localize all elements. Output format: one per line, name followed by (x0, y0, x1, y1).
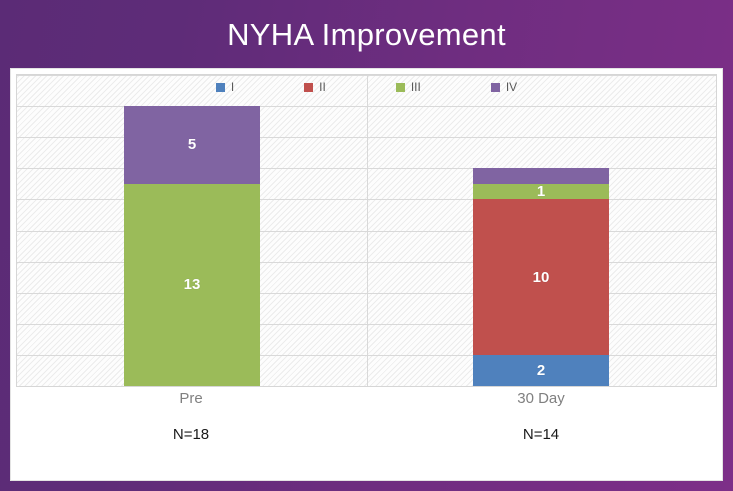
sample-size-label: N=18 (16, 427, 366, 442)
bar-segment-iii[interactable]: 13 (124, 184, 260, 386)
slide-canvas: NYHA Improvement IIIIIIIV 5131102 Pre30 … (0, 0, 733, 491)
x-axis-sample-size-labels: N=18N=14 (16, 427, 717, 457)
bar-value-label: 1 (537, 184, 545, 199)
bar-segment-ii[interactable]: 10 (473, 199, 609, 355)
x-axis-label-pre: Pre (16, 391, 366, 406)
gridline-horizontal (17, 386, 716, 387)
bar-value-label: 5 (188, 137, 196, 152)
bar-value-label: 13 (184, 277, 201, 292)
legend-label: III (411, 81, 421, 93)
legend-label: II (319, 81, 326, 93)
legend-swatch-icon (491, 83, 500, 92)
gridline-vertical (367, 75, 368, 386)
chart-card: IIIIIIIV 5131102 Pre30 Day N=18N=14 (10, 68, 723, 481)
legend-swatch-icon (304, 83, 313, 92)
legend-swatch-icon (216, 83, 225, 92)
legend-item-ii[interactable]: II (304, 81, 326, 93)
bar-segment-iv[interactable]: 5 (124, 106, 260, 184)
legend-label: I (231, 81, 234, 93)
bar-value-label: 2 (537, 363, 545, 378)
bar-segment-iii[interactable]: 1 (473, 184, 609, 200)
bar-stack-pre[interactable]: 513 (124, 106, 260, 386)
bar-stack-30-day[interactable]: 1102 (473, 168, 609, 386)
x-axis-category-labels: Pre30 Day (16, 391, 717, 425)
legend-item-i[interactable]: I (216, 81, 234, 93)
sample-size-label: N=14 (366, 427, 716, 442)
bar-segment-i[interactable]: 2 (473, 355, 609, 386)
legend-swatch-icon (396, 83, 405, 92)
chart-legend: IIIIIIIV (17, 81, 716, 93)
bar-segment-iv[interactable] (473, 168, 609, 184)
page-title: NYHA Improvement (227, 19, 506, 50)
x-axis-label-30-day: 30 Day (366, 391, 716, 406)
legend-label: IV (506, 81, 517, 93)
title-band: NYHA Improvement (0, 0, 733, 68)
legend-item-iii[interactable]: III (396, 81, 421, 93)
legend-item-iv[interactable]: IV (491, 81, 517, 93)
plot-area: IIIIIIIV 5131102 (16, 74, 717, 387)
bar-value-label: 10 (533, 270, 550, 285)
